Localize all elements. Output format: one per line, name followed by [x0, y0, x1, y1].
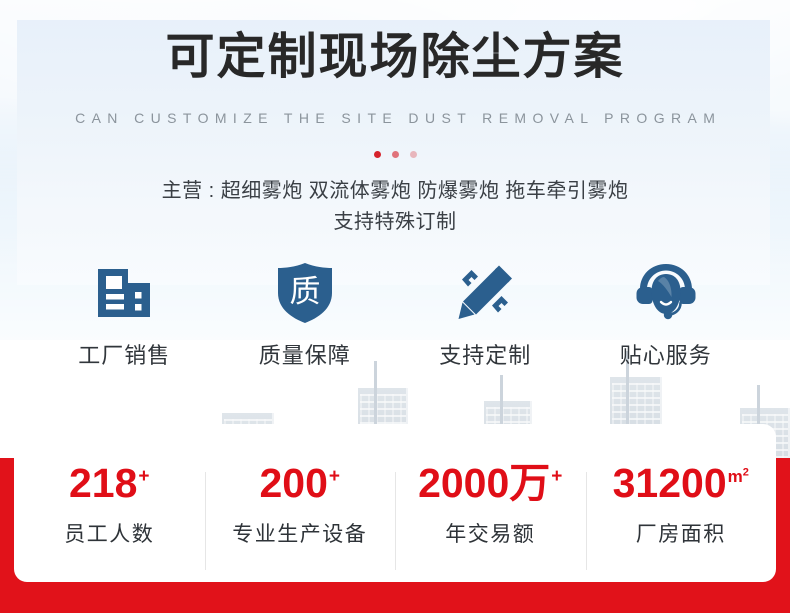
promo-banner: 可定制现场除尘方案 CAN CUSTOMIZE THE SITE DUST RE… [0, 0, 790, 613]
stat-label: 年交易额 [395, 518, 586, 548]
unit-exponent: 2 [743, 466, 749, 478]
feature-item-attentive-service[interactable]: 贴心服务 [576, 258, 757, 370]
dot-active[interactable] [374, 151, 381, 158]
feature-item-quality-guarantee[interactable]: 质 质量保障 [215, 258, 396, 370]
stat-label: 员工人数 [14, 518, 205, 548]
stat-label: 厂房面积 [586, 518, 777, 548]
stat-suffix-square-meter: m2 [728, 467, 749, 486]
svg-text:质: 质 [289, 274, 320, 309]
stat-number: 218 [69, 460, 137, 506]
stat-number: 200 [259, 460, 327, 506]
feature-label: 支持定制 [439, 338, 531, 370]
product-lines: 主营 : 超细雾炮 双流体雾炮 防爆雾炮 拖车牵引雾炮 支持特殊订制 [0, 176, 790, 238]
page-subtitle: CAN CUSTOMIZE THE SITE DUST REMOVAL PROG… [0, 110, 790, 126]
carousel-dots [0, 151, 790, 158]
stat-item-annual-turnover: 2000万+ 年交易额 [395, 459, 586, 548]
stat-value: 2000万+ [395, 463, 586, 504]
statistics-card: 218+ 员工人数 200+ 专业生产设备 2000万+ 年交易额 31200m… [14, 424, 776, 582]
stat-label: 专业生产设备 [205, 518, 396, 548]
product-line-secondary: 支持特殊订制 [0, 207, 790, 238]
feature-list: 工厂销售 质 质量保障 [34, 258, 756, 370]
shield-quality-icon: 质 [267, 258, 343, 328]
unit-meter: m [728, 467, 743, 486]
feature-label: 质量保障 [259, 338, 351, 370]
pencil-ruler-icon [447, 258, 523, 328]
dot-3[interactable] [410, 151, 417, 158]
page-title: 可定制现场除尘方案 [0, 33, 790, 82]
stat-suffix-plus: + [329, 466, 340, 487]
feature-label: 工厂销售 [78, 338, 170, 370]
stat-item-factory-area: 31200m2 厂房面积 [586, 459, 777, 548]
product-line-primary: 主营 : 超细雾炮 双流体雾炮 防爆雾炮 拖车牵引雾炮 [0, 176, 790, 207]
headset-operator-icon [628, 258, 704, 328]
stat-value: 218+ [14, 463, 205, 504]
stat-number: 2000万 [418, 460, 550, 506]
stat-item-equipment: 200+ 专业生产设备 [205, 459, 396, 548]
factory-building-icon [86, 258, 162, 328]
feature-item-factory-sales[interactable]: 工厂销售 [34, 258, 215, 370]
stat-value: 31200m2 [586, 463, 777, 504]
stat-suffix-plus: + [551, 466, 562, 487]
feature-label: 贴心服务 [620, 338, 712, 370]
stat-suffix-plus: + [138, 466, 149, 487]
stat-number: 31200 [613, 460, 727, 506]
feature-item-custom-support[interactable]: 支持定制 [395, 258, 576, 370]
stat-item-employees: 218+ 员工人数 [14, 459, 205, 548]
stat-value: 200+ [205, 463, 396, 504]
dot-2[interactable] [392, 151, 399, 158]
